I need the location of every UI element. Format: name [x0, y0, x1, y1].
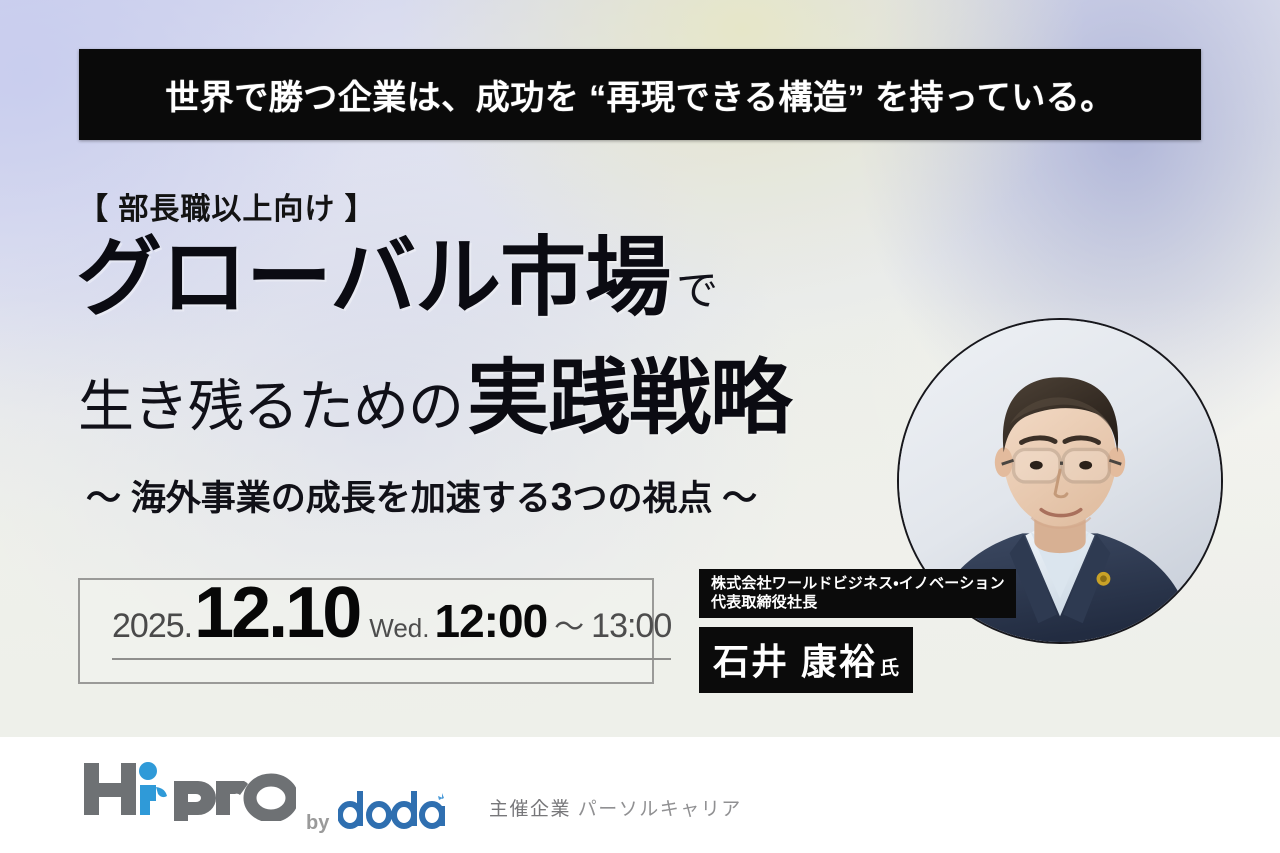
organizer-label: 主催企業 — [489, 799, 571, 820]
hipro-logo-icon — [82, 759, 296, 821]
title-line-1: グローバル市場 で — [76, 236, 718, 320]
schedule-monthday: 12.10 — [194, 572, 359, 654]
schedule-year: 2025. — [112, 607, 192, 646]
title-line1-main: グローバル市場 — [76, 236, 670, 320]
title-line2-main: 実践戦略 — [467, 358, 791, 440]
tagline-suffix: つの視点 〜 — [572, 479, 757, 518]
speaker-position: 代表取締役社長 — [711, 593, 1005, 612]
organizer-name: パーソルキャリア — [578, 799, 742, 820]
headline-bar: 世界で勝つ企業は、成功を “再現できる構造” を持っている。 — [79, 49, 1201, 140]
speaker-affiliation: 株式会社ワールドビジネス・イノベーション 代表取締役社長 — [699, 569, 1016, 618]
webinar-banner: 世界で勝つ企業は、成功を “再現できる構造” を持っている。 【 部長職以上向け… — [0, 0, 1280, 853]
tagline-prefix: 〜 海外事業の成長を加速する — [86, 479, 551, 518]
headline-text: 世界で勝つ企業は、成功を “再現できる構造” を持っている。 — [165, 70, 1115, 119]
tagline: 〜 海外事業の成長を加速する3つの視点 〜 — [86, 470, 757, 521]
title-line1-particle: で — [676, 270, 718, 320]
hipro-logo — [82, 759, 296, 821]
doda-logo-icon — [338, 789, 446, 829]
schedule-line: 2025. 12.10 Wed. 12:00 〜 13:00 — [112, 572, 671, 660]
by-doda-lockup: by — [306, 789, 446, 835]
footer: by 主催企業 パーソルキャリア — [0, 737, 1280, 853]
organizer-line: 主催企業 パーソルキャリア — [489, 794, 742, 821]
speaker-company: 株式会社ワールドビジネス・イノベーション — [711, 574, 1005, 593]
schedule-starttime: 12:00 — [435, 594, 548, 648]
tagline-number: 3 — [551, 476, 573, 519]
title-line2-lead: 生き残るための — [78, 379, 463, 440]
speaker-honorific: 氏 — [880, 653, 899, 680]
by-label: by — [306, 812, 329, 835]
schedule-weekday: Wed. — [369, 613, 429, 644]
audience-eyebrow: 【 部長職以上向け 】 — [78, 184, 376, 228]
schedule-endtime: 13:00 — [591, 607, 671, 646]
speaker-name-text: 石井 康裕 — [713, 633, 877, 685]
schedule-separator: 〜 — [554, 602, 584, 646]
schedule-box: 2025. 12.10 Wed. 12:00 〜 13:00 — [78, 578, 654, 684]
title-line-2: 生き残るための 実践戦略 — [78, 358, 791, 440]
speaker-name-badge: 石井 康裕 氏 — [699, 627, 913, 693]
